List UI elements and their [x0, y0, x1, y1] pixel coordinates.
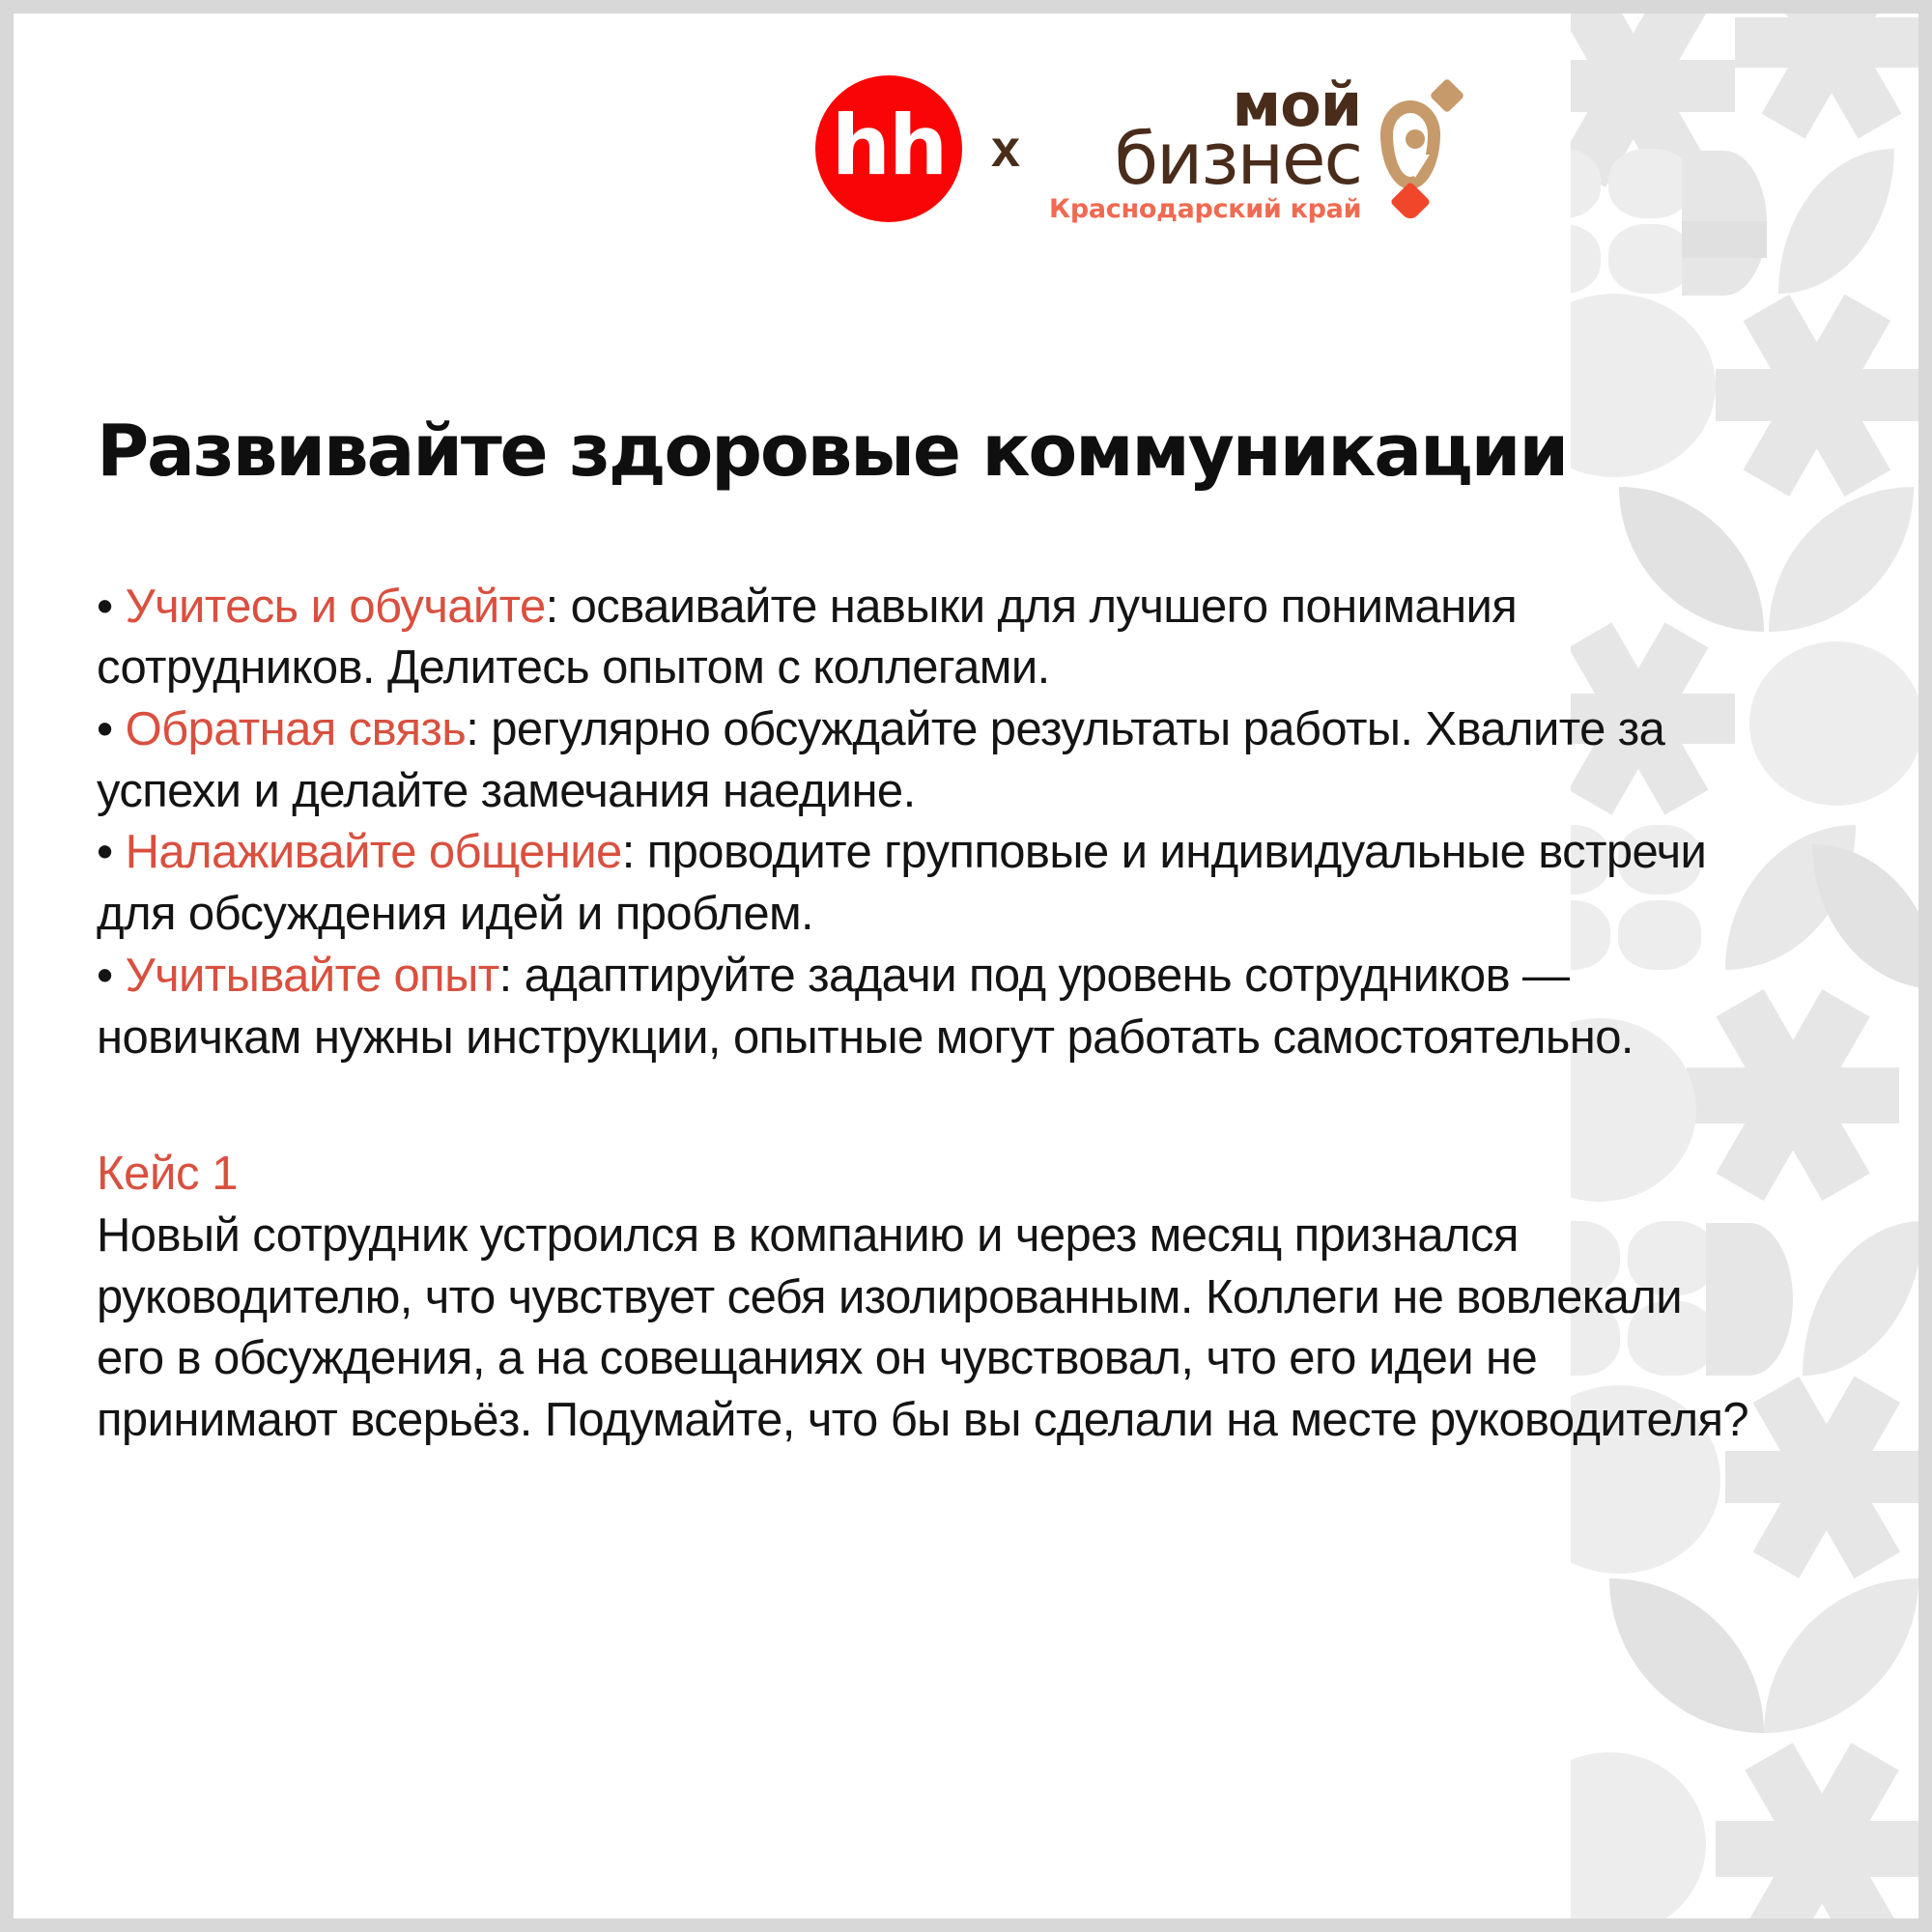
- pattern-star-icon: [1716, 1743, 1918, 1918]
- content-card: hh x мой бизнес Краснодарский край: [14, 14, 1918, 1918]
- pattern-petal: [1764, 1578, 1918, 1733]
- pattern-circle: [1571, 1752, 1706, 1918]
- hh-logo[interactable]: hh: [815, 75, 962, 222]
- pattern-petal: [1769, 487, 1914, 632]
- list-item: • Обратная связь: регулярно обсуждайте р…: [97, 699, 1758, 822]
- bullet-list: • Учитесь и обучайте: осваивайте навыки …: [97, 577, 1758, 1069]
- my-business-line2: бизнес: [1115, 127, 1362, 192]
- content-area: Развивайте здоровые коммуникации • Учите…: [97, 414, 1758, 1452]
- pattern-petal: [1803, 1221, 1918, 1376]
- map-pin-icon: [1375, 79, 1463, 224]
- page-title: Развивайте здоровые коммуникации: [97, 414, 1758, 490]
- my-business-logo[interactable]: мой бизнес Краснодарский край: [1049, 79, 1463, 224]
- slide-canvas: hh x мой бизнес Краснодарский край: [0, 0, 1932, 1932]
- pattern-petal: [1812, 844, 1918, 989]
- list-item: • Налаживайте общение: проводите группов…: [97, 822, 1758, 945]
- bullet-marker: •: [97, 581, 113, 633]
- my-business-region: Краснодарский край: [1049, 194, 1361, 224]
- case-body: Новый сотрудник устроился в компанию и ч…: [97, 1206, 1758, 1452]
- pattern-circle: [1749, 641, 1918, 806]
- list-item: • Учитывайте опыт: адаптируйте задачи по…: [97, 946, 1758, 1068]
- pattern-quad: [1682, 221, 1767, 258]
- pattern-half-disc: [1682, 151, 1767, 296]
- bullet-lead: Учитесь и обучайте: [126, 581, 546, 633]
- pattern-star-icon: [1735, 14, 1918, 139]
- bullet-marker: •: [97, 826, 113, 878]
- bullet-lead: Обратная связь: [126, 703, 467, 755]
- pattern-blob-cluster: [1571, 149, 1691, 294]
- my-business-wordmark: мой бизнес Краснодарский край: [1049, 79, 1361, 224]
- logo-lockup: hh x мой бизнес Краснодарский край: [815, 73, 1463, 224]
- case-title: Кейс 1: [97, 1144, 1758, 1206]
- case-block: Кейс 1 Новый сотрудник устроился в компа…: [97, 1144, 1758, 1451]
- bullet-lead: Налаживайте общение: [126, 826, 622, 878]
- pattern-petal: [1778, 149, 1894, 294]
- bullet-lead: Учитывайте опыт: [126, 950, 499, 1002]
- pattern-petal: [1609, 1578, 1764, 1733]
- bullet-marker: •: [97, 703, 113, 755]
- list-item: • Учитесь и обучайте: осваивайте навыки …: [97, 577, 1758, 699]
- hh-logo-text: hh: [832, 104, 946, 187]
- pattern-star-icon: [1571, 14, 1735, 187]
- logo-separator-x: x: [991, 119, 1020, 179]
- bullet-marker: •: [97, 950, 113, 1002]
